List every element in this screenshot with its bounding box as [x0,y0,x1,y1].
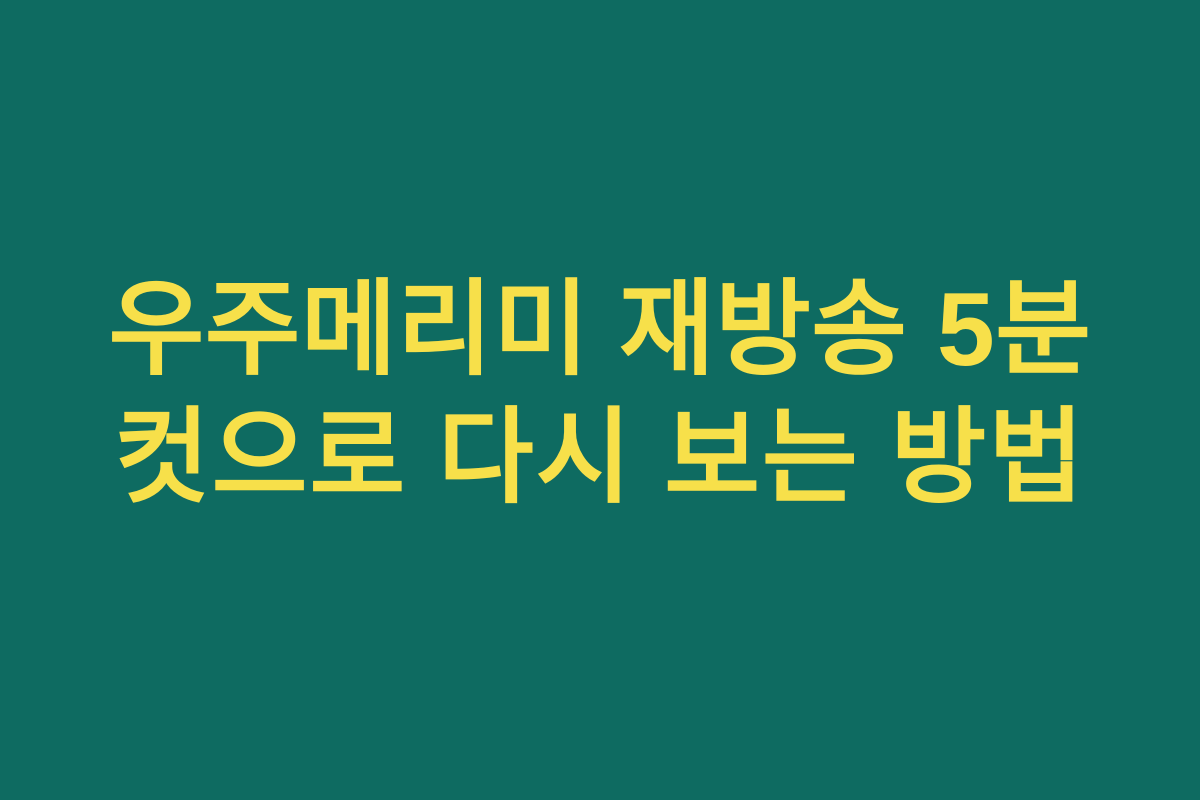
headline-line-2: 컷으로 다시 보는 방법 [40,403,1160,513]
headline-block: 우주메리미 재방송 5분 컷으로 다시 보는 방법 [0,275,1200,513]
poster-canvas: 우주메리미 재방송 5분 컷으로 다시 보는 방법 [0,0,1200,800]
headline-line-1: 우주메리미 재방송 5분 [40,275,1160,385]
